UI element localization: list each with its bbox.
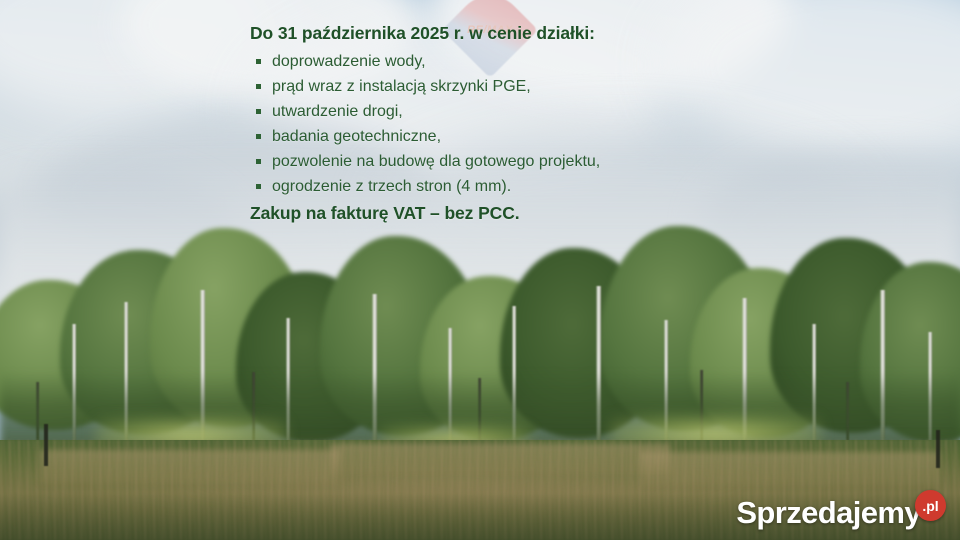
fence-post bbox=[44, 424, 48, 466]
list-item-label: badania geotechniczne, bbox=[272, 128, 441, 145]
list-item: pozwolenie na budowę dla gotowego projek… bbox=[250, 149, 730, 174]
square-bullet-icon bbox=[256, 84, 261, 89]
list-item: prąd wraz z instalacją skrzynki PGE, bbox=[250, 74, 730, 99]
list-item: doprowadzenie wody, bbox=[250, 49, 730, 74]
square-bullet-icon bbox=[256, 159, 261, 164]
list-item: badania geotechniczne, bbox=[250, 124, 730, 149]
brand-tld-badge: .pl bbox=[915, 490, 946, 521]
offer-feature-list: doprowadzenie wody, prąd wraz z instalac… bbox=[250, 49, 730, 199]
square-bullet-icon bbox=[256, 134, 261, 139]
birch-tree-band bbox=[0, 232, 960, 460]
sprzedajemy-logo[interactable]: Sprzedajemy .pl bbox=[736, 496, 946, 530]
list-item: utwardzenie drogi, bbox=[250, 99, 730, 124]
listing-photo-banner: RE/MAX Do 31 października 2025 r. w ceni… bbox=[0, 0, 960, 540]
list-item: ogrodzenie z trzech stron (4 mm). bbox=[250, 174, 730, 199]
square-bullet-icon bbox=[256, 184, 261, 189]
square-bullet-icon bbox=[256, 109, 261, 114]
offer-text-overlay: Do 31 października 2025 r. w cenie dział… bbox=[250, 22, 730, 224]
list-item-label: pozwolenie na budowę dla gotowego projek… bbox=[272, 153, 600, 170]
list-item-label: ogrodzenie z trzech stron (4 mm). bbox=[272, 178, 511, 195]
offer-footline: Zakup na fakturę VAT – bez PCC. bbox=[250, 202, 730, 224]
fence-post bbox=[936, 430, 940, 468]
list-item-label: doprowadzenie wody, bbox=[272, 53, 426, 70]
offer-headline: Do 31 października 2025 r. w cenie dział… bbox=[250, 22, 730, 44]
brand-name: Sprzedajemy bbox=[736, 496, 921, 530]
list-item-label: prąd wraz z instalacją skrzynki PGE, bbox=[272, 78, 531, 95]
list-item-label: utwardzenie drogi, bbox=[272, 103, 403, 120]
square-bullet-icon bbox=[256, 59, 261, 64]
